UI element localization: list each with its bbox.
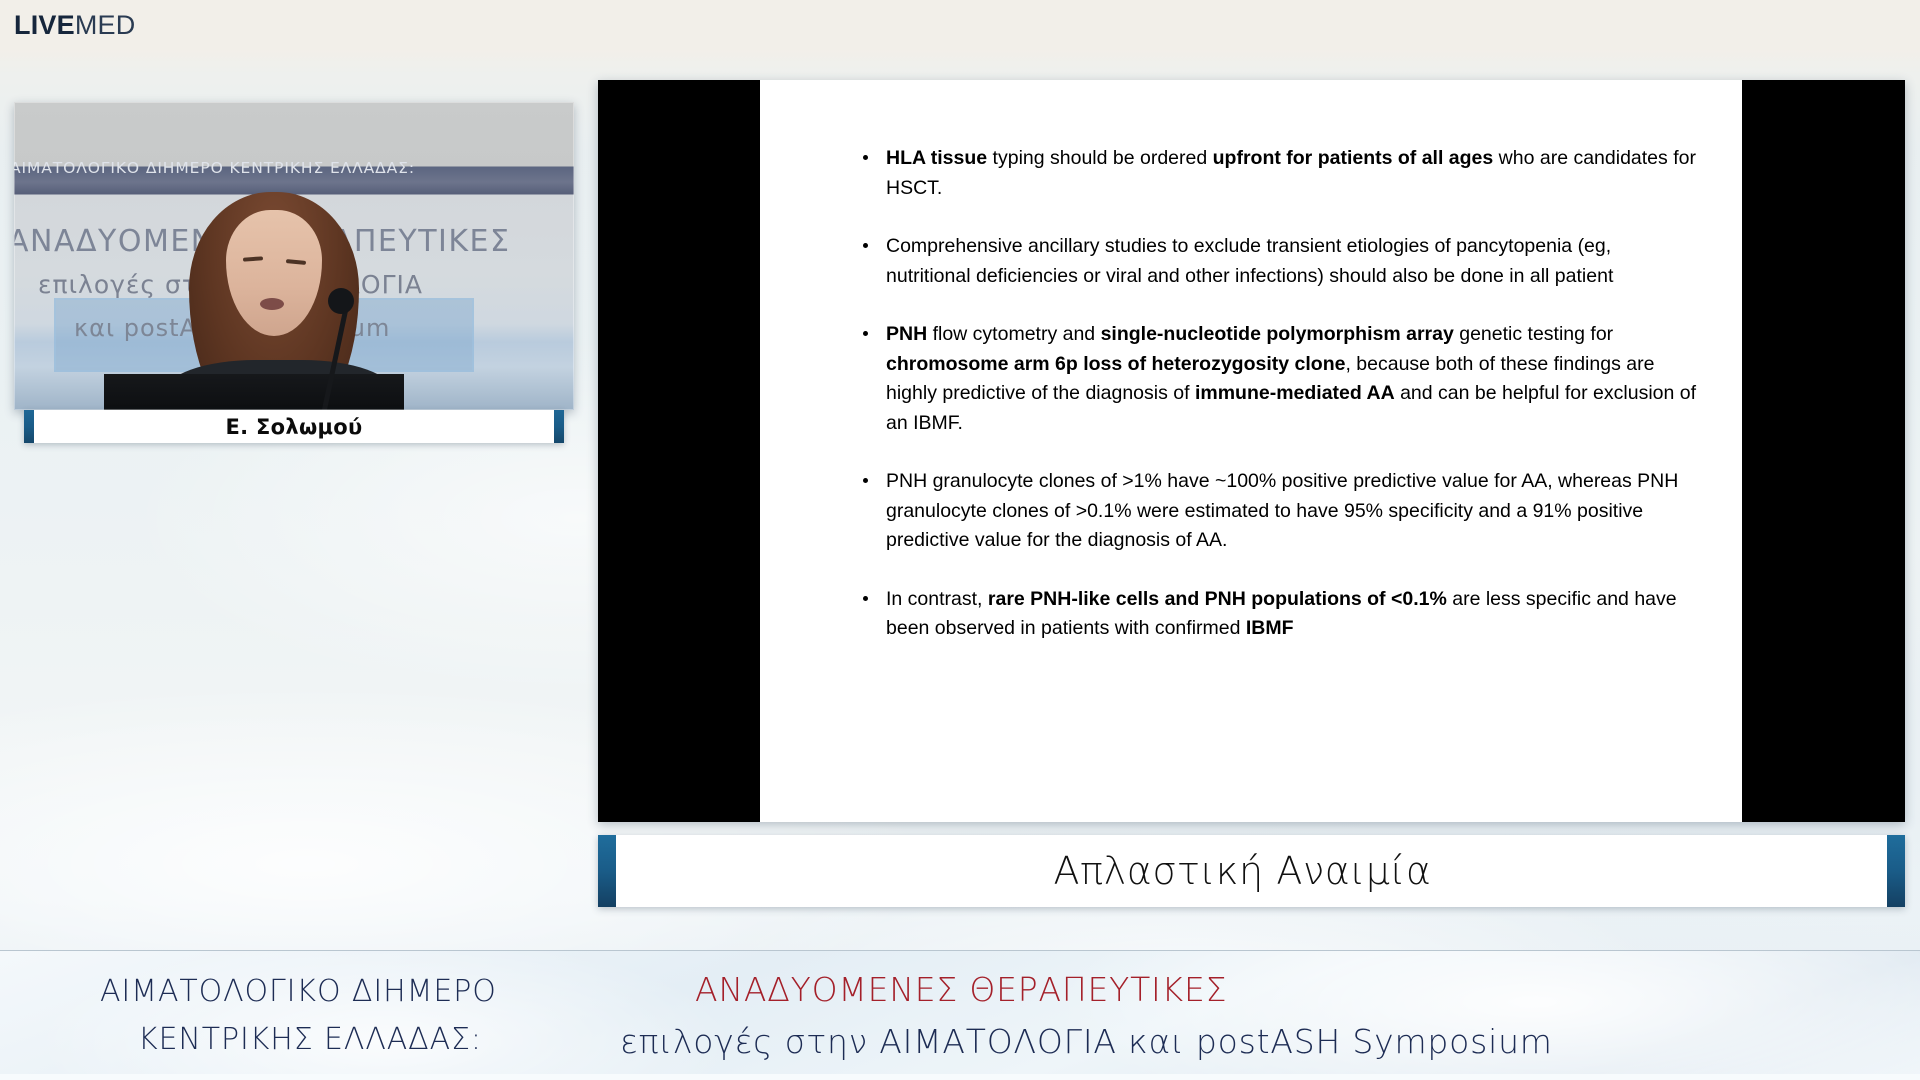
title-bar-accent-left — [598, 835, 616, 907]
bullet-hla-tissue: HLA tissue typing should be ordered upfr… — [860, 144, 1700, 203]
bullet-pnh-granulocyte-clones: PNH granulocyte clones of >1% have ~100%… — [860, 467, 1700, 556]
footer-right-line-2: επιλογές στην ΑΙΜΑΤΟΛΟΓΙΑ και postASH Sy… — [620, 1016, 1920, 1067]
logo-med-text: MED — [75, 10, 136, 40]
slide-title-bar: Απλαστική Αναιμία — [598, 835, 1905, 907]
name-plate-accent-left — [24, 410, 34, 443]
microphone-icon — [328, 288, 354, 314]
footer-left-text: ΑΙΜΑΤΟΛΟΓΙΚΟ ΔΙΗΜΕΡΟ ΚΕΝΤΡΙΚΗΣ ΕΛΛΑΔΑΣ: — [0, 968, 620, 1063]
video-frame: ΑΙΜΑΤΟΛΟΓΙΚΟ ΔΙΗΜΕΡΟ ΚΕΝΤΡΙΚΗΣ ΕΛΛΑΔΑΣ: … — [14, 102, 574, 410]
title-bar-accent-right — [1887, 835, 1905, 907]
presentation-slide[interactable]: HLA tissue typing should be ordered upfr… — [598, 80, 1905, 822]
event-footer-banner: ΑΙΜΑΤΟΛΟΓΙΚΟ ΔΙΗΜΕΡΟ ΚΕΝΤΡΙΚΗΣ ΕΛΛΑΔΑΣ: … — [0, 950, 1920, 1080]
footer-left-line-2: ΚΕΝΤΡΙΚΗΣ ΕΛΛΑΔΑΣ: — [100, 1016, 620, 1063]
speaker-name-label: Ε. Σολωμού — [34, 410, 554, 443]
livemed-logo: LIVEMED — [14, 12, 135, 39]
bullet-rare-pnh-like-cells: In contrast, rare PNH-like cells and PNH… — [860, 585, 1700, 644]
speaker-name-plate: Ε. Σολωμού — [24, 410, 564, 443]
slide-bullet-list: HLA tissue typing should be ordered upfr… — [860, 144, 1700, 644]
footer-right-line-1: ΑΝΑΔΥΟΜΕΝΕΣ ΘΕΡΑΠΕΥΤΙΚΕΣ — [620, 964, 1920, 1015]
footer-right-text: ΑΝΑΔΥΟΜΕΝΕΣ ΘΕΡΑΠΕΥΤΙΚΕΣ επιλογές στην Α… — [620, 964, 1920, 1066]
bullet-ancillary-studies: Comprehensive ancillary studies to exclu… — [860, 232, 1700, 291]
logo-live-text: LIVE — [14, 10, 75, 40]
backdrop-line-1: ΑΙΜΑΤΟΛΟΓΙΚΟ ΔΙΗΜΕΡΟ ΚΕΝΤΡΙΚΗΣ ΕΛΛΑΔΑΣ: — [14, 159, 570, 177]
bottom-strip — [0, 1074, 1920, 1080]
name-plate-accent-right — [554, 410, 564, 443]
slide-title: Απλαστική Αναιμία — [616, 835, 1887, 907]
presenter-mouth — [260, 298, 284, 310]
speaker-video-panel[interactable]: ΑΙΜΑΤΟΛΟΓΙΚΟ ΔΙΗΜΕΡΟ ΚΕΝΤΡΙΚΗΣ ΕΛΛΑΔΑΣ: … — [14, 102, 574, 410]
bullet-pnh-flow-cytometry: PNH flow cytometry and single-nucleotide… — [860, 320, 1700, 438]
podium — [104, 374, 404, 410]
footer-left-line-1: ΑΙΜΑΤΟΛΟΓΙΚΟ ΔΙΗΜΕΡΟ — [100, 968, 620, 1015]
slide-page: HLA tissue typing should be ordered upfr… — [760, 80, 1742, 822]
